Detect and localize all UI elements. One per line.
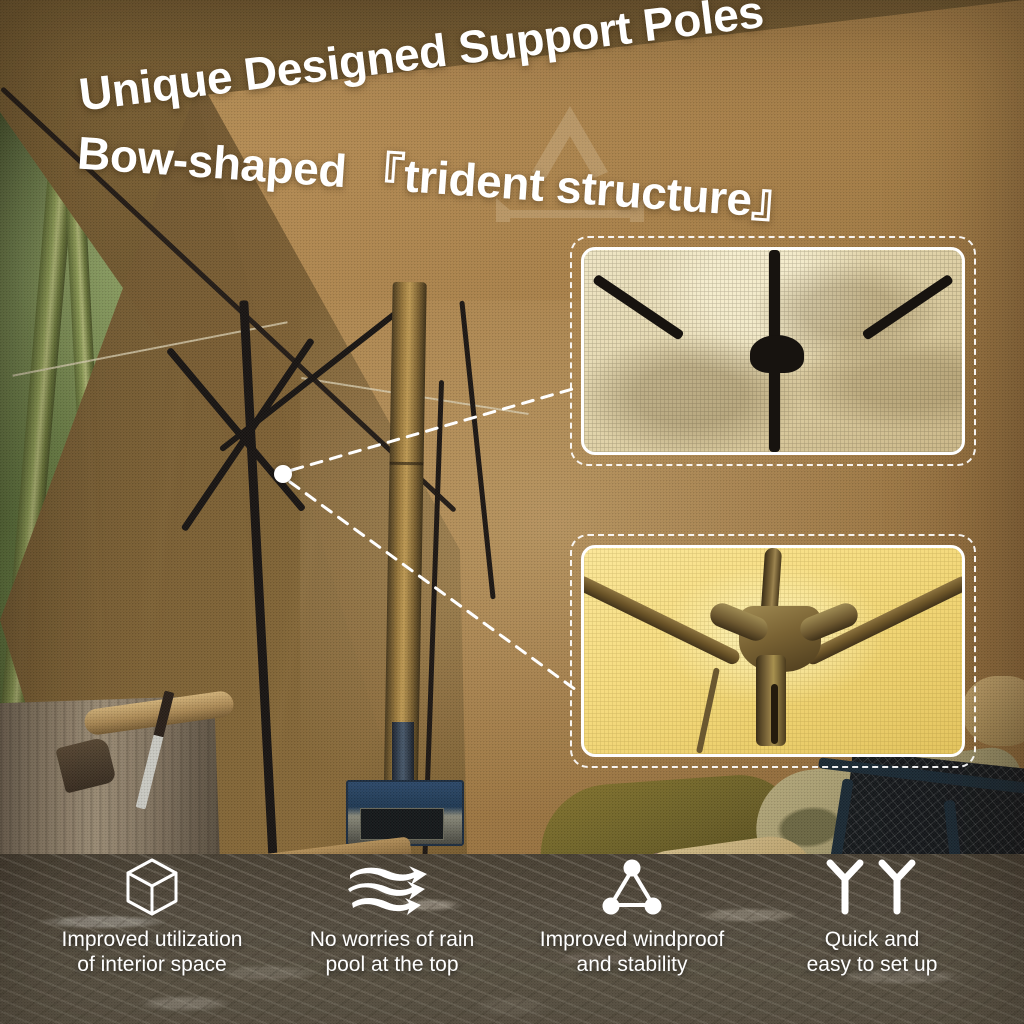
hub-adjust-slot (771, 684, 778, 744)
callout-marker-dot[interactable] (274, 465, 292, 483)
product-feature-poster: Unique Designed Support Poles Bow-shaped… (0, 0, 1024, 1024)
inset-top-photo (581, 247, 965, 455)
photo-grain (0, 0, 1024, 1024)
campsite-photo (0, 0, 1024, 1024)
trident-hub (750, 335, 804, 373)
inset-panel-top[interactable] (570, 236, 976, 466)
inset-bottom-photo (581, 545, 965, 757)
inset-panel-bottom[interactable] (570, 534, 976, 768)
